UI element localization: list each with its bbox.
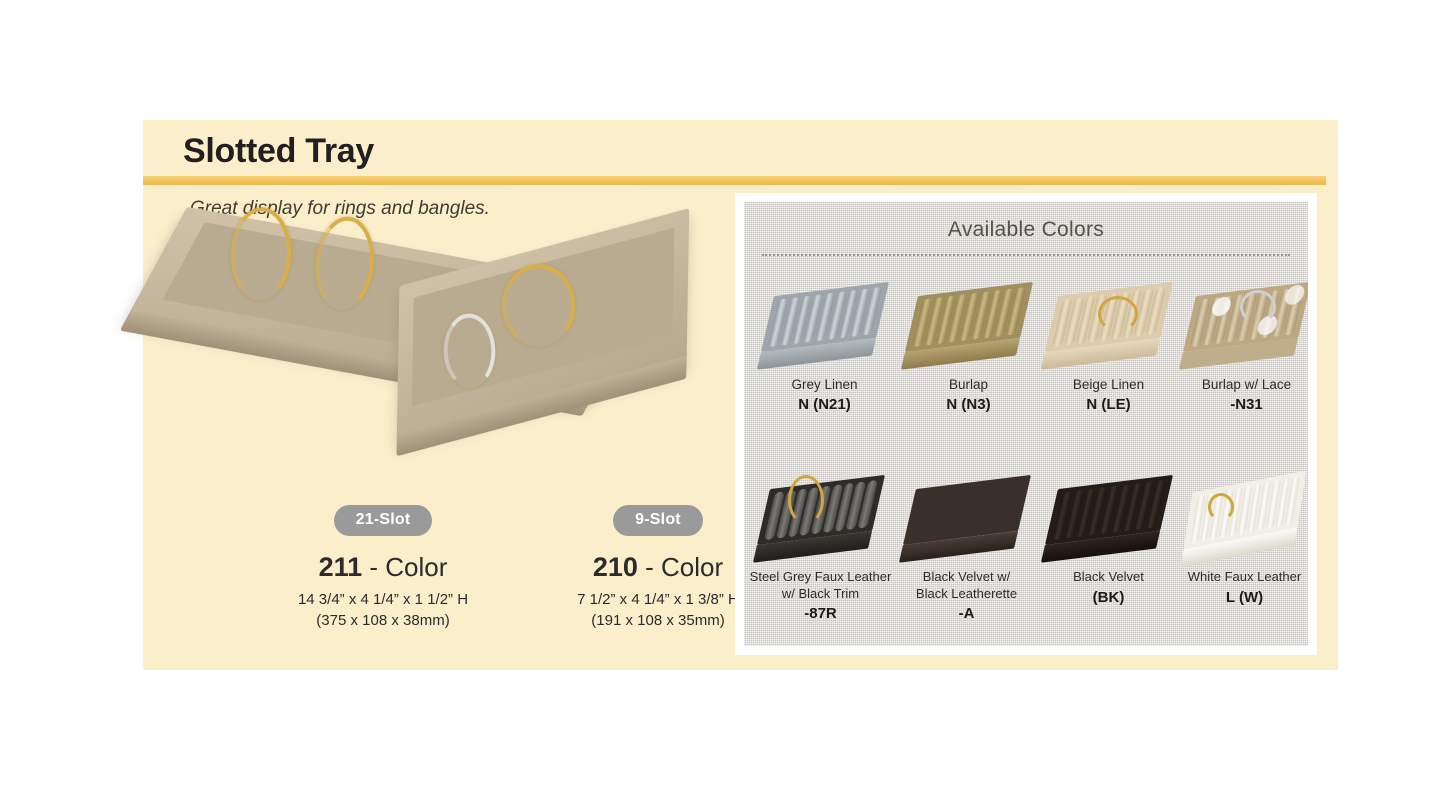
swatch-image (894, 457, 1039, 569)
model-number: 211 (319, 552, 363, 582)
swatch-code: (BK) (1036, 589, 1181, 606)
swatch-code: N (N21) (752, 396, 897, 413)
product-caption-21-slot: 21-Slot 211 - Color 14 3/4” x 4 1/4” x 1… (268, 505, 498, 631)
color-swatch-white-faux-leather[interactable]: White Faux Leather L (W) (1172, 457, 1308, 646)
gold-ring-icon (1098, 296, 1138, 332)
available-colors-inner: Available Colors Grey Linen N (N21) (744, 202, 1308, 646)
swatch-code: -A (894, 605, 1039, 622)
color-swatch-burlap[interactable]: Burlap N (N3) (896, 264, 1041, 454)
swatch-name: Burlap w/ Lace (1174, 376, 1308, 393)
gold-bangle-icon (788, 475, 824, 525)
available-colors-panel: Available Colors Grey Linen N (N21) (735, 193, 1317, 655)
swatch-image (1036, 264, 1181, 376)
model-suffix: - Color (369, 552, 447, 582)
color-swatch-row-top: Grey Linen N (N21) Burlap N (N3) (744, 264, 1308, 454)
model-number: 210 (593, 552, 638, 582)
dimensions: 14 3/4” x 4 1/4” x 1 1/2” H (375 x 108 x… (268, 590, 498, 631)
swatch-image (748, 457, 893, 569)
color-swatch-row-bottom: Steel Grey Faux Leather w/ Black Trim -8… (744, 457, 1308, 646)
color-swatch-beige-linen[interactable]: Beige Linen N (LE) (1036, 264, 1181, 454)
swatch-image (1172, 457, 1308, 569)
silver-ring-icon (1240, 290, 1276, 324)
swatch-code: -87R (748, 605, 893, 622)
swatch-code: N (LE) (1036, 396, 1181, 413)
dimensions-mm: (375 x 108 x 38mm) (268, 611, 498, 632)
swatch-image (752, 264, 897, 376)
model-line: 211 - Color (268, 552, 498, 583)
swatch-code: -N31 (1174, 396, 1308, 413)
color-swatch-black-velvet[interactable]: Black Velvet (BK) (1036, 457, 1181, 646)
swatch-name: Steel Grey Faux Leather w/ Black Trim (748, 569, 893, 602)
gold-divider-rule (143, 176, 1326, 185)
swatch-image (896, 264, 1041, 376)
color-swatch-burlap-lace[interactable]: Burlap w/ Lace -N31 (1174, 264, 1308, 454)
swatch-name: Burlap (896, 376, 1041, 393)
swatch-name: Beige Linen (1036, 376, 1181, 393)
slot-count-badge: 21-Slot (334, 505, 433, 536)
swatch-image (1036, 457, 1181, 569)
page-title: Slotted Tray (183, 132, 374, 171)
color-swatch-grey-linen[interactable]: Grey Linen N (N21) (752, 264, 897, 454)
hero-product-photo (153, 225, 728, 510)
color-swatch-steel-grey-faux-leather[interactable]: Steel Grey Faux Leather w/ Black Trim -8… (748, 457, 893, 646)
dotted-divider (762, 254, 1290, 256)
swatch-code: N (N3) (896, 396, 1041, 413)
swatch-code: L (W) (1172, 589, 1308, 606)
color-swatch-black-velvet-leatherette[interactable]: Black Velvet w/ Black Leatherette -A (894, 457, 1039, 646)
swatch-name: Grey Linen (752, 376, 897, 393)
slot-count-badge: 9-Slot (613, 505, 703, 536)
available-colors-title: Available Colors (744, 218, 1308, 242)
dimensions-inches: 14 3/4” x 4 1/4” x 1 1/2” H (268, 590, 498, 611)
gold-ring-icon (1208, 493, 1234, 521)
swatch-image (1174, 264, 1308, 376)
swatch-name: Black Velvet w/ Black Leatherette (894, 569, 1039, 602)
tray-9-slot-image (397, 208, 690, 442)
swatch-name: White Faux Leather (1172, 569, 1308, 586)
catalog-page: Slotted Tray Great display for rings and… (143, 120, 1338, 670)
swatch-name: Black Velvet (1036, 569, 1181, 586)
model-suffix: - Color (645, 552, 723, 582)
